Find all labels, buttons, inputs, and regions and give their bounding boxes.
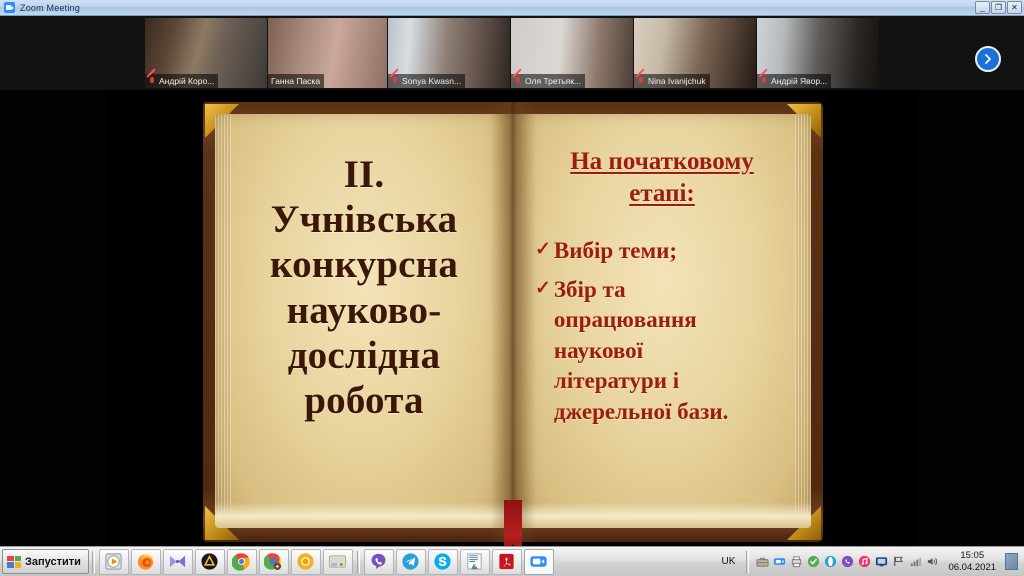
mic-muted-icon (148, 77, 156, 86)
participant-name-bar: Sonya Kwasn... (388, 74, 465, 88)
slide-title: II. Учнівська конкурсна науково- дослідн… (237, 130, 491, 423)
title-line: Учнівська (237, 197, 491, 242)
participant-name-bar: Ганна Паска (268, 74, 324, 88)
display-icon[interactable] (875, 555, 888, 568)
clock-date: 06.04.2021 (948, 562, 996, 573)
music-tray-icon[interactable] (858, 555, 871, 568)
screen: Zoom Meeting _ ❐ ✕ Андрій Коро... Ганна … (0, 0, 1024, 576)
maximize-button[interactable]: ❐ (991, 1, 1006, 14)
heading-line: етапі: (535, 178, 789, 210)
minimize-button[interactable]: _ (975, 1, 990, 14)
aimp-icon[interactable] (195, 549, 225, 575)
list-item-line: Вибір теми; (554, 236, 677, 267)
title-line: науково- (237, 288, 491, 333)
taskbar: Запустити (0, 546, 1024, 576)
title-line: конкурсна (237, 242, 491, 287)
participant-name-bar: Оля Третьяк... (511, 74, 585, 88)
clock-time: 15:05 (948, 550, 996, 561)
window-title: Zoom Meeting (20, 3, 80, 13)
list-item-line: наукової (554, 336, 728, 367)
checkmark-icon: ✓ (535, 275, 551, 304)
running-tasks: W (363, 549, 555, 575)
zoom-camera-icon (4, 2, 15, 13)
participant-tile[interactable]: Андрій Коро... (145, 18, 267, 88)
title-line: II. (237, 152, 491, 197)
checkmark-icon: ✓ (535, 236, 551, 265)
participant-name: Андрій Коро... (159, 76, 214, 86)
bookmark-ribbon (504, 500, 522, 546)
zoom-icon[interactable] (524, 549, 554, 575)
svg-text:W: W (474, 562, 481, 569)
participant-name: Nina Ivanijchuk (648, 76, 706, 86)
windows-flag-icon (7, 556, 21, 568)
participant-name-bar: Андрій Явор... (757, 74, 831, 88)
mic-muted-icon (760, 77, 768, 86)
bullet-list: ✓ Вибір теми; ✓ Збір та (535, 236, 789, 427)
participant-tile[interactable]: Андрій Явор... (757, 18, 879, 88)
heading-line: На початковому (535, 146, 789, 178)
chevron-right-icon (982, 53, 994, 65)
quick-launch-bar (98, 549, 354, 575)
title-line: робота (237, 378, 491, 423)
firefox-icon[interactable] (131, 549, 161, 575)
taskbar-separator (92, 551, 95, 573)
participant-tile[interactable]: Оля Третьяк... (511, 18, 633, 88)
volume-icon[interactable] (926, 555, 939, 568)
participant-name-bar: Nina Ivanijchuk (634, 74, 710, 88)
list-item: ✓ Збір та опрацювання наукової літератур… (535, 275, 789, 428)
taskbar-separator (357, 551, 360, 573)
book-pages: II. Учнівська конкурсна науково- дослідн… (215, 114, 811, 528)
shared-screen-stage: II. Учнівська конкурсна науково- дослідн… (0, 90, 1024, 546)
mic-muted-icon (514, 77, 522, 86)
network-signal-icon[interactable] (909, 555, 922, 568)
participant-tile[interactable]: Nina Ivanijchuk (634, 18, 756, 88)
participant-tile[interactable]: Ганна Паска (268, 18, 387, 88)
chrome-icon[interactable] (227, 549, 257, 575)
list-item-line: Збір та (554, 275, 728, 306)
right-page-content: На початковому етапі: ✓ Вибір теми; (513, 114, 811, 528)
toolbox-icon[interactable] (756, 555, 769, 568)
participant-name: Андрій Явор... (771, 76, 827, 86)
antivirus-ok-icon[interactable] (807, 555, 820, 568)
window-controls: _ ❐ ✕ (975, 1, 1022, 14)
window-title-bar: Zoom Meeting _ ❐ ✕ (0, 0, 1024, 16)
opera-icon[interactable] (824, 555, 837, 568)
telegram-icon[interactable] (396, 549, 426, 575)
mic-muted-icon (637, 77, 645, 86)
list-item: ✓ Вибір теми; (535, 236, 789, 267)
file-explorer-icon[interactable] (323, 549, 353, 575)
book-page-left: II. Учнівська конкурсна науково- дослідн… (215, 114, 513, 528)
list-item-line: джерельної бази. (554, 397, 728, 428)
flag-action-center-icon[interactable] (892, 555, 905, 568)
book-page-right: На початковому етапі: ✓ Вибір теми; (513, 114, 811, 528)
printer-icon[interactable] (790, 555, 803, 568)
list-item-line: літератури і (554, 366, 728, 397)
tray-separator (746, 551, 749, 573)
chrome-beta-icon[interactable] (291, 549, 321, 575)
participant-tile[interactable]: Sonya Kwasn... (388, 18, 510, 88)
participant-name: Sonya Kwasn... (402, 76, 461, 86)
close-button[interactable]: ✕ (1007, 1, 1022, 14)
viber-tray-icon[interactable] (841, 555, 854, 568)
viber-icon[interactable] (364, 549, 394, 575)
wordpad-icon[interactable]: W (460, 549, 490, 575)
system-tray: UK 15:05 06.04.2021 (718, 550, 1024, 572)
list-item-text: Вибір теми; (554, 236, 677, 267)
participant-name-bar: Андрій Коро... (145, 74, 218, 88)
participant-name: Оля Третьяк... (525, 76, 581, 86)
left-page-content: II. Учнівська конкурсна науково- дослідн… (215, 114, 513, 528)
zoom-client: Андрій Коро... Ганна Паска Sonya Kwasn..… (0, 16, 1024, 546)
mic-muted-icon (391, 77, 399, 86)
skype-icon[interactable] (428, 549, 458, 575)
start-button[interactable]: Запустити (2, 549, 89, 574)
presentation-slide: II. Учнівська конкурсна науково- дослідн… (107, 90, 917, 546)
chrome-canary-icon[interactable] (259, 549, 289, 575)
next-participants-button[interactable] (975, 46, 1001, 72)
language-indicator[interactable]: UK (718, 556, 740, 567)
show-desktop-button[interactable] (1005, 553, 1018, 570)
section-heading: На початковому етапі: (535, 130, 789, 210)
book-illustration: II. Учнівська конкурсна науково- дослідн… (203, 102, 823, 542)
media-player-icon[interactable] (99, 549, 129, 575)
list-item-line: опрацювання (554, 305, 728, 336)
start-button-label: Запустити (25, 556, 81, 568)
list-item-text: Збір та опрацювання наукової літератури … (554, 275, 728, 428)
zoom-tray-icon[interactable] (773, 555, 786, 568)
bowtie-player-icon[interactable] (163, 549, 193, 575)
participant-name: Ганна Паска (271, 76, 320, 86)
participant-filmstrip: Андрій Коро... Ганна Паска Sonya Kwasn..… (0, 16, 1024, 90)
clock[interactable]: 15:05 06.04.2021 (943, 550, 1001, 572)
adobe-pdf-icon[interactable] (492, 549, 522, 575)
title-line: дослідна (237, 333, 491, 378)
